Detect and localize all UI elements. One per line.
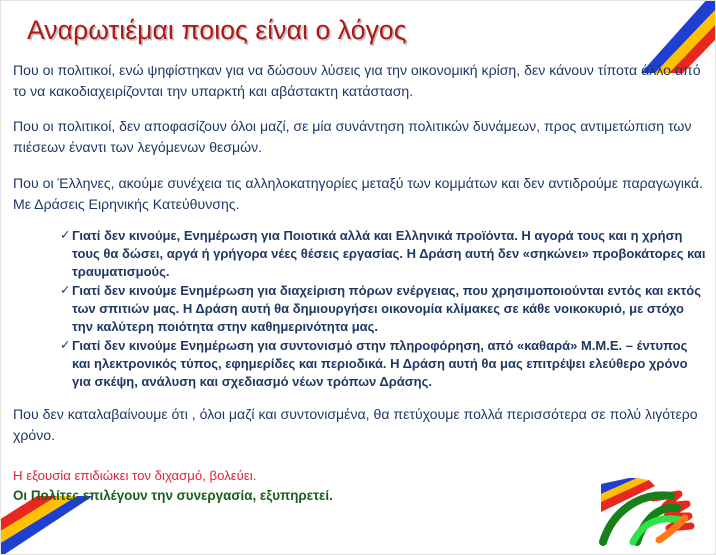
bullet-item-2: ✓ Γιατί δεν κινούμε Ενημέρωση για διαχεί… xyxy=(60,282,708,335)
closing-line-red: Η εξουσία επιδιώκει τον διχασμό, βολεύει… xyxy=(13,466,613,486)
paragraph-3: Που οι Έλληνες, ακούμε συνέχεια τις αλλη… xyxy=(13,173,708,214)
presentation-slide: Αναρωτιέμαι ποιος είναι ο λόγος Που οι π… xyxy=(0,0,716,555)
check-mark-icon: ✓ xyxy=(60,227,70,244)
check-mark-icon: ✓ xyxy=(60,282,70,299)
action-bullet-list: ✓ Γιατί δεν κινούμε, Ενημέρωση για Ποιοτ… xyxy=(13,227,708,390)
bullet-item-2-text: Γιατί δεν κινούμε Ενημέρωση για διαχείρι… xyxy=(72,283,701,333)
paragraph-1: Που οι πολιτικοί, ενώ ψηφίστηκαν για να … xyxy=(13,60,708,101)
closing-line-green: Οι Πολίτες επιλέγουν την συνεργασία, εξυ… xyxy=(13,486,613,507)
paragraph-2: Που οι πολιτικοί, δεν αποφασίζουν όλοι μ… xyxy=(13,116,708,157)
paragraph-4: Που δεν καταλαβαίνουμε ότι , όλοι μαζί κ… xyxy=(13,404,708,445)
bullet-item-3-text: Γιατί δεν κινούμε Ενημέρωση για συντονισ… xyxy=(72,338,688,388)
slide-body: Που οι πολιτικοί, ενώ ψηφίστηκαν για να … xyxy=(13,60,708,461)
check-mark-icon: ✓ xyxy=(60,337,70,354)
closing-statements: Η εξουσία επιδιώκει τον διχασμό, βολεύει… xyxy=(13,466,613,507)
bullet-item-1-text: Γιατί δεν κινούμε, Ενημέρωση για Ποιοτικ… xyxy=(72,228,706,278)
bullet-item-3: ✓ Γιατί δεν κινούμε Ενημέρωση για συντον… xyxy=(60,337,708,390)
bullet-item-1: ✓ Γιατί δεν κινούμε, Ενημέρωση για Ποιοτ… xyxy=(60,227,708,280)
slide-title: Αναρωτιέμαι ποιος είναι ο λόγος xyxy=(27,15,407,46)
